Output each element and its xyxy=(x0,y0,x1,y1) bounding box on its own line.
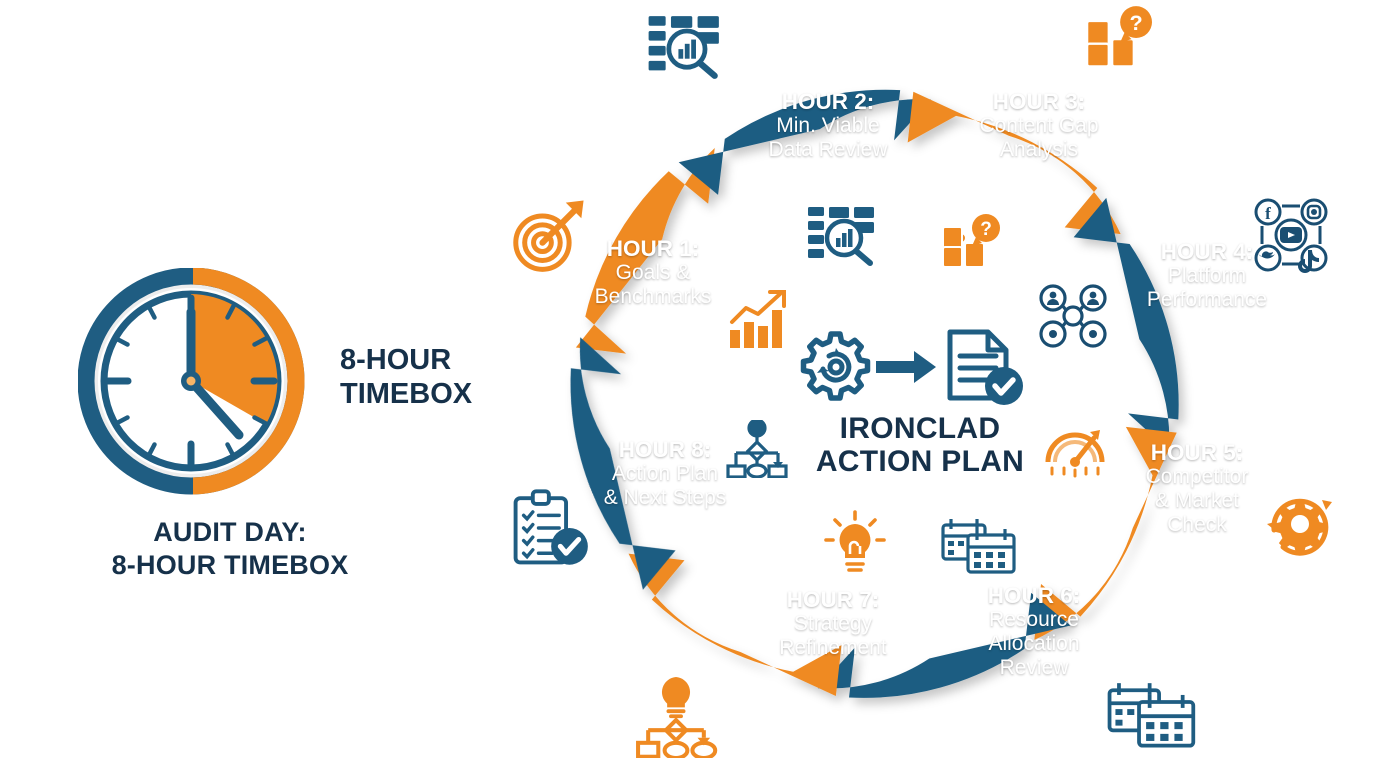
caption-line1: AUDIT DAY: xyxy=(20,516,440,549)
segment-arc-2[interactable] xyxy=(675,56,940,218)
audit-day-caption: AUDIT DAY: 8-HOUR TIMEBOX xyxy=(20,516,440,582)
gear-cycle-icon xyxy=(1262,486,1338,558)
puzzle-question-icon: ? xyxy=(1083,5,1155,71)
caption-line2: 8-HOUR TIMEBOX xyxy=(20,549,440,582)
lightbulb-icon xyxy=(822,510,888,576)
clock-icon xyxy=(78,268,308,498)
data-analysis-icon xyxy=(648,14,728,80)
calendar-icon xyxy=(940,517,1018,575)
center-icon-group xyxy=(790,326,1050,408)
segment-arc-6[interactable] xyxy=(809,569,1075,731)
puzzle-question-icon: ? xyxy=(940,213,1002,271)
svg-text:?: ? xyxy=(980,219,992,240)
arrow-right-icon xyxy=(876,351,936,383)
clipboard-check-icon xyxy=(508,489,592,567)
infographic-canvas: 8-HOUR TIMEBOX AUDIT DAY: 8-HOUR TIMEBOX xyxy=(0,0,1376,768)
center-title: IRONCLAD ACTION PLAN xyxy=(770,412,1070,478)
gear-refresh-arrows xyxy=(817,348,849,380)
speedometer-icon xyxy=(1042,418,1108,478)
check-badge-icon xyxy=(985,367,1023,405)
segment-arc-3[interactable] xyxy=(891,40,1121,296)
social-media-icon: f xyxy=(1252,196,1330,274)
flowchart-bulb-icon xyxy=(630,672,722,758)
timebox-panel: 8-HOUR TIMEBOX AUDIT DAY: 8-HOUR TIMEBOX xyxy=(0,0,500,768)
data-analysis-icon xyxy=(808,205,882,267)
growth-chart-icon xyxy=(728,288,792,350)
center-title-line1: IRONCLAD xyxy=(770,412,1070,445)
target-arrow-icon xyxy=(508,198,588,274)
audience-network-icon xyxy=(1038,284,1110,348)
flowchart-icon xyxy=(724,420,790,478)
svg-text:f: f xyxy=(1265,204,1271,223)
gear-refresh-icon xyxy=(804,334,868,398)
center-title-line2: ACTION PLAN xyxy=(770,445,1070,478)
calendar-icon xyxy=(1106,680,1198,750)
svg-text:?: ? xyxy=(1129,10,1142,35)
